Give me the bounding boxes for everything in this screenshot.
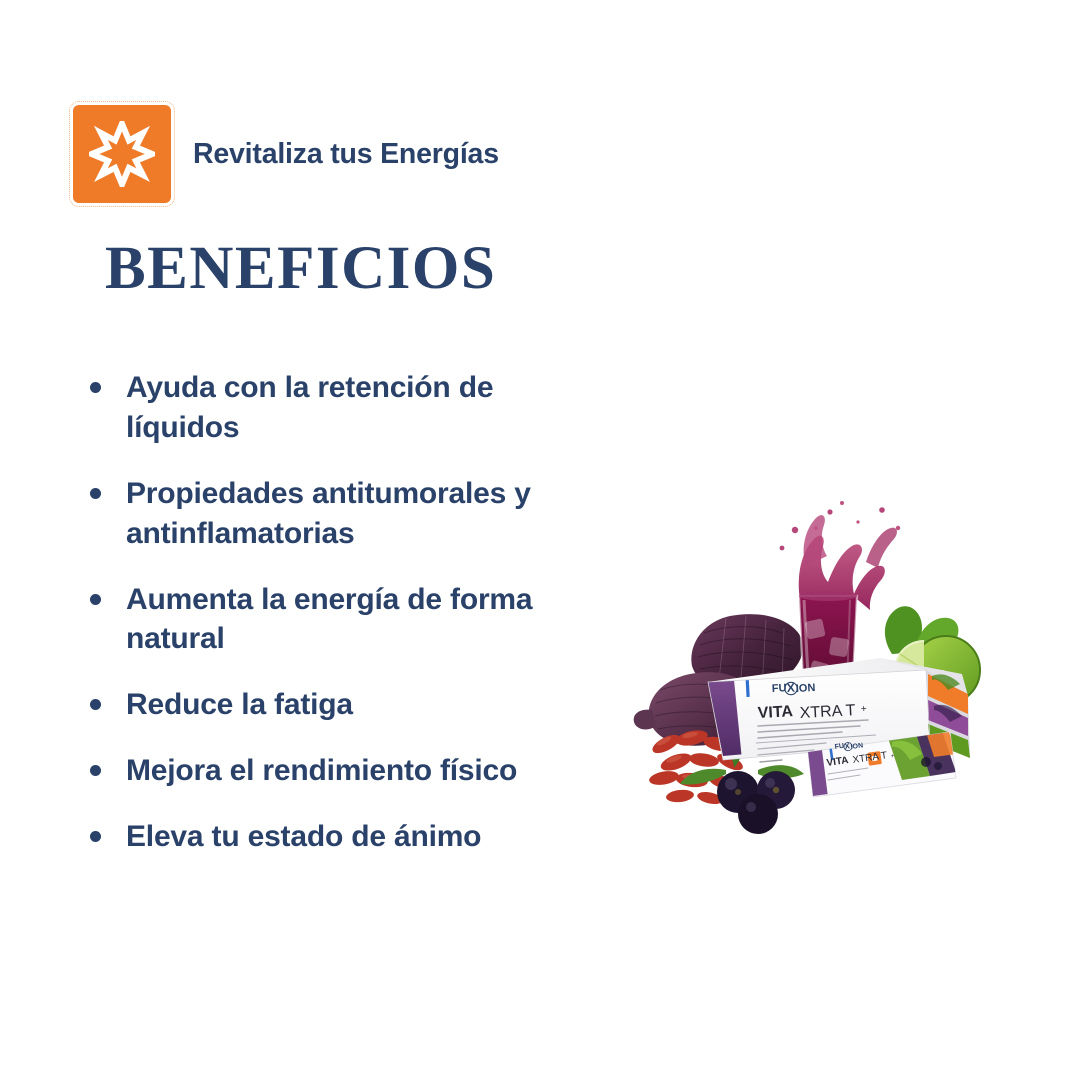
- benefits-list: Ayuda con la retención de líquidos Propi…: [90, 368, 590, 883]
- header: Revitaliza tus Energías: [73, 105, 499, 203]
- list-item: Propiedades antitumorales y antinflamato…: [90, 474, 590, 554]
- page-title: BENEFICIOS: [105, 238, 496, 299]
- brand-logo-tile: [73, 105, 171, 203]
- poster-canvas: Revitaliza tus Energías BENEFICIOS Ayuda…: [0, 0, 1080, 1080]
- product-image: FU X ION VITA XTRA T +: [630, 470, 1010, 840]
- benefit-text: Aumenta la energía de forma natural: [126, 580, 590, 660]
- benefit-text: Eleva tu estado de ánimo: [126, 817, 481, 857]
- benefit-text: Reduce la fatiga: [126, 685, 353, 725]
- benefit-text: Mejora el rendimiento físico: [126, 751, 517, 791]
- header-title: Revitaliza tus Energías: [193, 138, 499, 171]
- list-item: Ayuda con la retención de líquidos: [90, 368, 590, 448]
- bullet-icon: [90, 831, 101, 842]
- bullet-icon: [90, 594, 101, 605]
- list-item: Aumenta la energía de forma natural: [90, 580, 590, 660]
- benefit-text: Ayuda con la retención de líquidos: [126, 368, 590, 448]
- svg-text:XTRA T: XTRA T: [799, 702, 856, 722]
- bullet-icon: [90, 699, 101, 710]
- svg-text:5 g: 5 g: [935, 757, 943, 764]
- box-product-name: VITA: [757, 703, 794, 722]
- eight-point-star-icon: [89, 121, 155, 187]
- bullet-icon: [90, 488, 101, 499]
- list-item: Eleva tu estado de ánimo: [90, 817, 590, 857]
- list-item: Mejora el rendimiento físico: [90, 751, 590, 791]
- benefit-text: Propiedades antitumorales y antinflamato…: [126, 474, 590, 554]
- sachet-brand-text: FU: [834, 743, 844, 751]
- bullet-icon: [90, 765, 101, 776]
- svg-text:+: +: [861, 704, 868, 715]
- list-item: Reduce la fatiga: [90, 685, 590, 725]
- svg-text:ION: ION: [796, 682, 816, 695]
- bullet-icon: [90, 382, 101, 393]
